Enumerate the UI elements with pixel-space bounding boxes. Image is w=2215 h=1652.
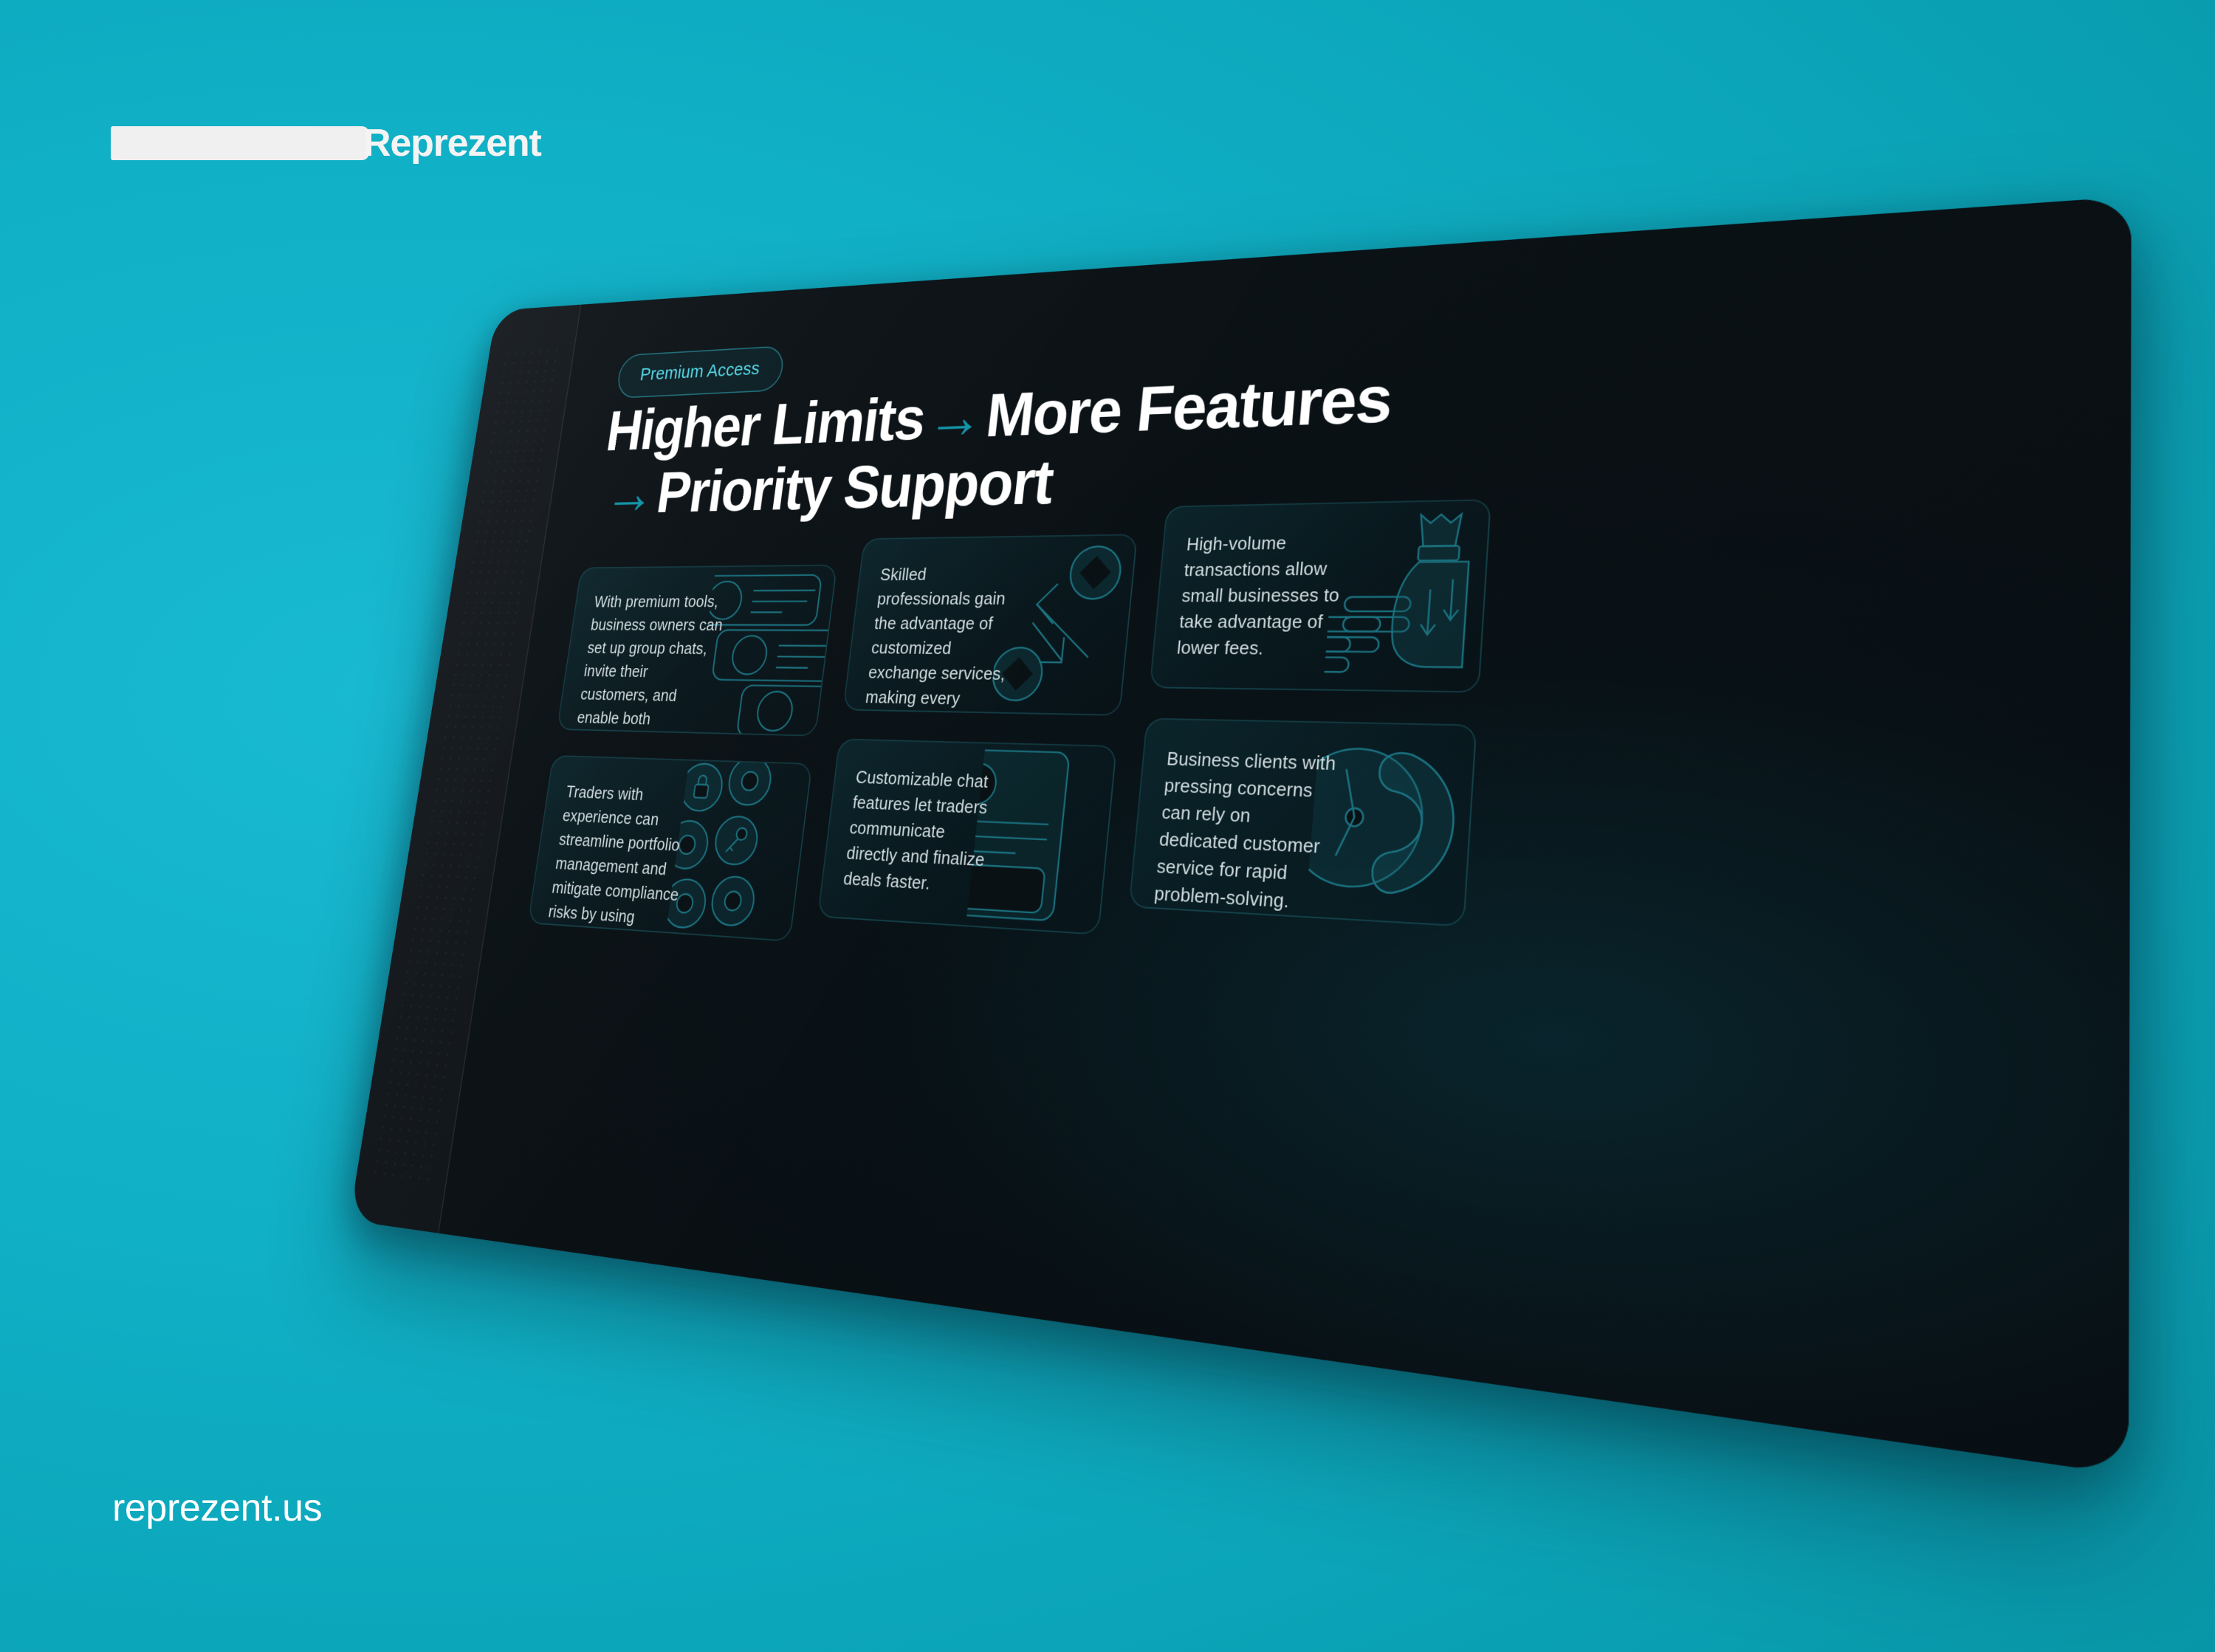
feature-card-grid: With premium tools, business owners can … (505, 546, 2077, 1240)
feature-card-priority-support[interactable]: Business clients with pressing concerns … (1128, 717, 1477, 926)
tablet-screen: Premium Access Higher Limits→More Featur… (439, 196, 2131, 1475)
card-description: Traders with experience can streamline p… (528, 757, 726, 942)
tablet-device: Premium Access Higher Limits→More Featur… (221, 221, 2053, 1314)
feature-card-portfolio-tools[interactable]: Traders with experience can streamline p… (528, 755, 813, 942)
arrow-right-icon-2: → (599, 461, 662, 526)
headline-part-3: Priority Support (653, 447, 1056, 525)
brand-logo: Reprezent (111, 120, 541, 166)
status-badge: Premium Access (615, 345, 785, 399)
footer-url: reprezent.us (112, 1486, 322, 1530)
headline-part-2: More Features (983, 362, 1394, 450)
logo-bar-icon (111, 126, 369, 160)
arrow-right-icon: → (921, 382, 991, 452)
feature-card-customized-exchange[interactable]: Skilled professionals gain the advantage… (842, 534, 1138, 716)
slide-canvas: Reprezent Premium Access Higher Limits→M… (0, 0, 2215, 1652)
card-description: Skilled professionals gain the advantage… (842, 537, 1046, 716)
feature-card-chat-features[interactable]: Customizable chat features let traders c… (817, 738, 1117, 935)
card-description: Business clients with pressing concerns … (1128, 719, 1366, 926)
brand-wordmark: Reprezent (363, 124, 541, 162)
tablet-frame: Premium Access Higher Limits→More Featur… (349, 196, 2132, 1475)
card-description: High-volume transactions allow small bus… (1151, 503, 1383, 689)
feature-card-group-chats[interactable]: With premium tools, business owners can … (557, 565, 837, 737)
feature-card-lower-fees[interactable]: High-volume transactions allow small bus… (1150, 499, 1491, 693)
card-description: Customizable chat features let traders c… (819, 740, 1024, 926)
card-description: With premium tools, business owners can … (557, 567, 752, 737)
